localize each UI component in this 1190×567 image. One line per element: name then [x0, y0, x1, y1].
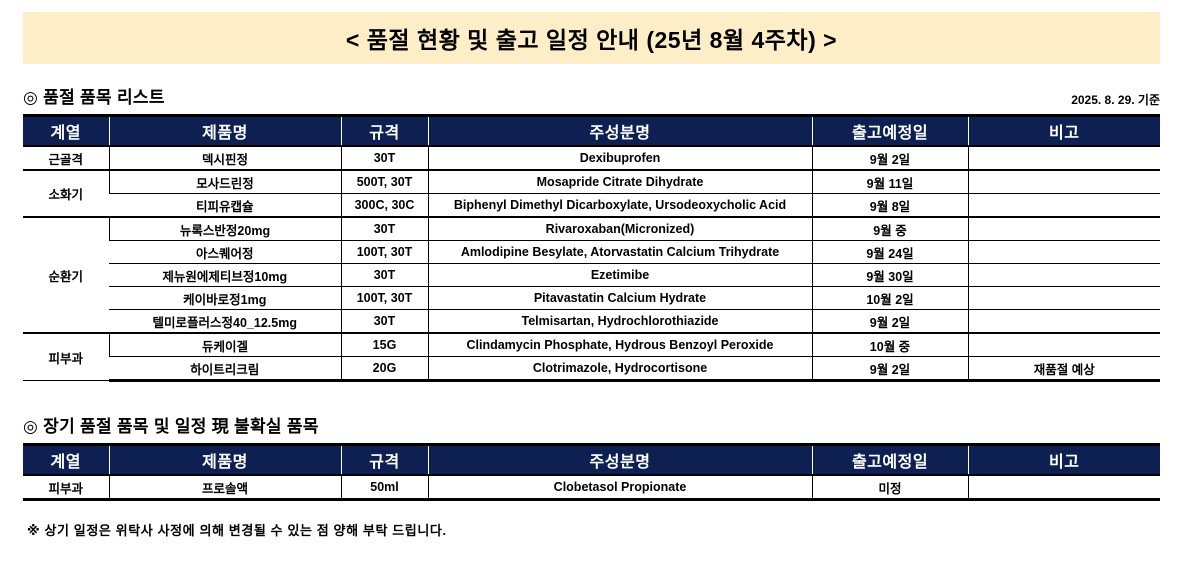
cell-remark	[968, 287, 1160, 310]
cell-spec: 50ml	[341, 475, 428, 500]
cell-remark	[968, 310, 1160, 334]
cell-remark	[968, 217, 1160, 241]
table-row: 하이트리크림20GClotrimazole, Hydrocortisone9월 …	[23, 357, 1160, 381]
col-header-product: 제품명	[109, 116, 341, 147]
table-1-body: 근골격덱시핀정30TDexibuprofen9월 2일소화기모사드린정500T,…	[23, 146, 1160, 381]
cell-remark	[968, 264, 1160, 287]
table-row: 소화기모사드린정500T, 30TMosapride Citrate Dihyd…	[23, 170, 1160, 194]
cell-remark	[968, 475, 1160, 500]
section-1-date-note: 2025. 8. 29. 기준	[1071, 91, 1160, 108]
cell-remark	[968, 241, 1160, 264]
page-title: < 품절 현황 및 출고 일정 안내 (25년 8월 4주차) >	[346, 21, 837, 55]
cell-remark: 재품절 예상	[968, 357, 1160, 381]
table-row: 아스퀘어정100T, 30TAmlodipine Besylate, Atorv…	[23, 241, 1160, 264]
cell-remark	[968, 194, 1160, 218]
cell-ship-date: 9월 중	[812, 217, 968, 241]
col-header-product: 제품명	[109, 445, 341, 476]
cell-ingredient: Dexibuprofen	[428, 146, 812, 170]
cell-ship-date: 9월 11일	[812, 170, 968, 194]
cell-ingredient: Clindamycin Phosphate, Hydrous Benzoyl P…	[428, 333, 812, 357]
cell-product-name: 덱시핀정	[109, 146, 341, 170]
cell-product-name: 텔미로플러스정40_12.5mg	[109, 310, 341, 334]
cell-remark	[968, 170, 1160, 194]
cell-series: 피부과	[23, 333, 109, 381]
cell-ingredient: Clobetasol Propionate	[428, 475, 812, 500]
cell-ship-date: 9월 2일	[812, 310, 968, 334]
table-row: 순환기뉴록스반정20mg30TRivaroxaban(Micronized)9월…	[23, 217, 1160, 241]
cell-product-name: 뉴록스반정20mg	[109, 217, 341, 241]
cell-ingredient: Telmisartan, Hydrochlorothiazide	[428, 310, 812, 334]
cell-product-name: 듀케이겔	[109, 333, 341, 357]
cell-ship-date: 9월 2일	[812, 146, 968, 170]
table-2-body: 피부과프로솔액50mlClobetasol Propionate미정	[23, 475, 1160, 500]
cell-spec: 30T	[341, 146, 428, 170]
cell-series: 순환기	[23, 217, 109, 333]
cell-product-name: 제뉴원에제티브정10mg	[109, 264, 341, 287]
cell-spec: 100T, 30T	[341, 287, 428, 310]
table-row: 근골격덱시핀정30TDexibuprofen9월 2일	[23, 146, 1160, 170]
cell-ingredient: Clotrimazole, Hydrocortisone	[428, 357, 812, 381]
footer-note: ※ 상기 일정은 위탁사 사정에 의해 변경될 수 있는 점 양해 부탁 드립니…	[27, 520, 447, 539]
cell-spec: 30T	[341, 264, 428, 287]
cell-ship-date: 10월 2일	[812, 287, 968, 310]
cell-ship-date: 10월 중	[812, 333, 968, 357]
section-1-title: ◎ 품절 품목 리스트	[23, 83, 165, 108]
cell-ingredient: Pitavastatin Calcium Hydrate	[428, 287, 812, 310]
col-header-ingredient: 주성분명	[428, 116, 812, 147]
cell-product-name: 프로솔액	[109, 475, 341, 500]
cell-ship-date: 미정	[812, 475, 968, 500]
title-banner: < 품절 현황 및 출고 일정 안내 (25년 8월 4주차) >	[23, 12, 1160, 64]
cell-ingredient: Ezetimibe	[428, 264, 812, 287]
cell-ingredient: Mosapride Citrate Dihydrate	[428, 170, 812, 194]
col-header-series: 계열	[23, 445, 109, 476]
table-1-header-row: 계열 제품명 규격 주성분명 출고예정일 비고	[23, 116, 1160, 147]
col-header-spec: 규격	[341, 116, 428, 147]
col-header-ship-date: 출고예정일	[812, 116, 968, 147]
cell-series: 근골격	[23, 146, 109, 170]
cell-spec: 20G	[341, 357, 428, 381]
cell-spec: 100T, 30T	[341, 241, 428, 264]
table-row: 케이바로정1mg100T, 30TPitavastatin Calcium Hy…	[23, 287, 1160, 310]
cell-ingredient: Amlodipine Besylate, Atorvastatin Calciu…	[428, 241, 812, 264]
cell-ship-date: 9월 24일	[812, 241, 968, 264]
col-header-ingredient: 주성분명	[428, 445, 812, 476]
cell-spec: 300C, 30C	[341, 194, 428, 218]
document-page: < 품절 현황 및 출고 일정 안내 (25년 8월 4주차) > ◎ 품절 품…	[0, 0, 1190, 567]
cell-product-name: 티피유캡슐	[109, 194, 341, 218]
cell-spec: 30T	[341, 217, 428, 241]
cell-product-name: 하이트리크림	[109, 357, 341, 381]
section-1-header: ◎ 품절 품목 리스트 2025. 8. 29. 기준	[23, 84, 1160, 108]
cell-ingredient: Rivaroxaban(Micronized)	[428, 217, 812, 241]
table-row: 텔미로플러스정40_12.5mg30TTelmisartan, Hydrochl…	[23, 310, 1160, 334]
col-header-remark: 비고	[968, 116, 1160, 147]
table-row: 티피유캡슐300C, 30CBiphenyl Dimethyl Dicarbox…	[23, 194, 1160, 218]
table-row: 피부과듀케이겔15GClindamycin Phosphate, Hydrous…	[23, 333, 1160, 357]
cell-spec: 15G	[341, 333, 428, 357]
cell-product-name: 케이바로정1mg	[109, 287, 341, 310]
shortage-items-table: 계열 제품명 규격 주성분명 출고예정일 비고 근골격덱시핀정30TDexibu…	[23, 114, 1160, 382]
table-row: 제뉴원에제티브정10mg30TEzetimibe9월 30일	[23, 264, 1160, 287]
cell-ship-date: 9월 30일	[812, 264, 968, 287]
cell-series: 소화기	[23, 170, 109, 217]
cell-series: 피부과	[23, 475, 109, 500]
section-2-title: ◎ 장기 품절 품목 및 일정 現 불확실 품목	[23, 412, 319, 437]
cell-ship-date: 9월 2일	[812, 357, 968, 381]
table-row: 피부과프로솔액50mlClobetasol Propionate미정	[23, 475, 1160, 500]
cell-product-name: 모사드린정	[109, 170, 341, 194]
cell-ingredient: Biphenyl Dimethyl Dicarboxylate, Ursodeo…	[428, 194, 812, 218]
cell-remark	[968, 146, 1160, 170]
col-header-remark: 비고	[968, 445, 1160, 476]
cell-spec: 30T	[341, 310, 428, 334]
section-2-header: ◎ 장기 품절 품목 및 일정 現 불확실 품목	[23, 413, 1160, 437]
table-2-header-row: 계열 제품명 규격 주성분명 출고예정일 비고	[23, 445, 1160, 476]
col-header-ship-date: 출고예정일	[812, 445, 968, 476]
long-term-shortage-table: 계열 제품명 규격 주성분명 출고예정일 비고 피부과프로솔액50mlClobe…	[23, 443, 1160, 501]
cell-product-name: 아스퀘어정	[109, 241, 341, 264]
cell-remark	[968, 333, 1160, 357]
cell-ship-date: 9월 8일	[812, 194, 968, 218]
col-header-spec: 규격	[341, 445, 428, 476]
col-header-series: 계열	[23, 116, 109, 147]
cell-spec: 500T, 30T	[341, 170, 428, 194]
